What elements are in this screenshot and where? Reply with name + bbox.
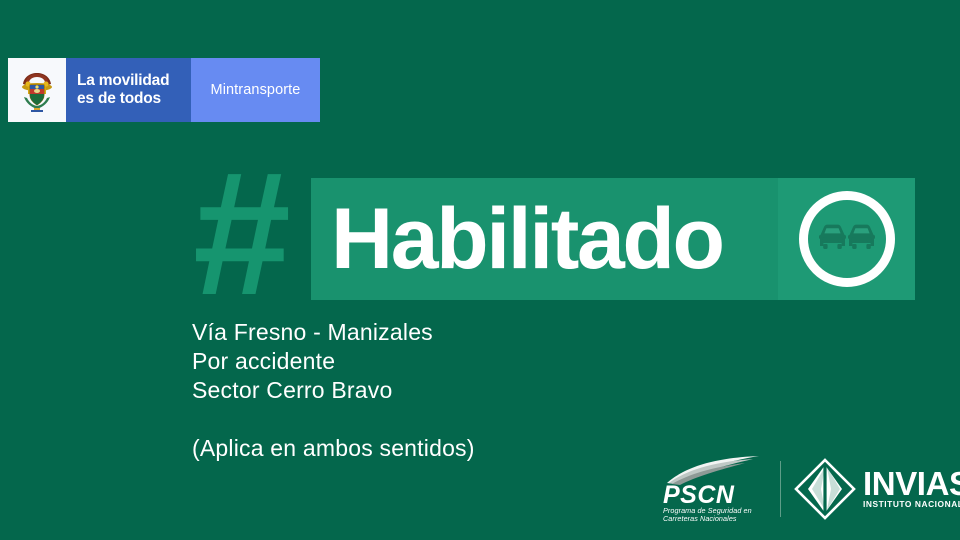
detail-line-cause: Por accidente	[192, 347, 712, 376]
footer-logos: PSCN Programa de Seguridad en Carreteras…	[663, 450, 960, 528]
pscn-logo: PSCN Programa de Seguridad en Carreteras…	[663, 455, 769, 524]
ministry-entity-block: Mintransporte	[191, 58, 320, 122]
invias-tagline: INSTITUTO NACIONAL DE VIAS	[863, 499, 960, 510]
colombia-crest-block	[8, 58, 66, 122]
status-label: Habilitado	[331, 196, 723, 282]
detail-line-route: Vía Fresno - Manizales	[192, 318, 712, 347]
pscn-subtitle-line-2: Carreteras Nacionales	[663, 515, 737, 523]
status-icon-panel	[778, 178, 915, 300]
slogan-line-1: La movilidad	[77, 72, 191, 90]
invias-diamond-icon	[794, 458, 856, 520]
logo-divider	[780, 461, 781, 517]
invias-name: INVIAS	[863, 468, 960, 499]
pscn-acronym: PSCN	[663, 483, 734, 507]
status-banner: Habilitado	[311, 178, 915, 300]
government-header-bar: La movilidad es de todos Mintransporte	[8, 58, 320, 122]
slogan-line-2: es de todos	[77, 90, 191, 108]
invias-logo: INVIAS INSTITUTO NACIONAL DE VIAS	[794, 458, 960, 520]
detail-line-sector: Sector Cerro Bravo	[192, 376, 712, 405]
hashtag-symbol: #	[193, 178, 321, 300]
colombia-coat-of-arms-icon	[17, 67, 57, 113]
two-cars-circle-icon	[799, 191, 895, 287]
ministry-entity-label: Mintransporte	[211, 82, 301, 98]
incident-details: Vía Fresno - Manizales Por accidente Sec…	[192, 318, 712, 463]
slide-canvas: La movilidad es de todos Mintransporte #…	[0, 0, 960, 540]
invias-wordmark: INVIAS INSTITUTO NACIONAL DE VIAS	[863, 468, 960, 510]
status-label-container: Habilitado	[311, 178, 778, 300]
government-slogan-block: La movilidad es de todos	[66, 58, 191, 122]
detail-line-note: (Aplica en ambos sentidos)	[192, 434, 712, 463]
